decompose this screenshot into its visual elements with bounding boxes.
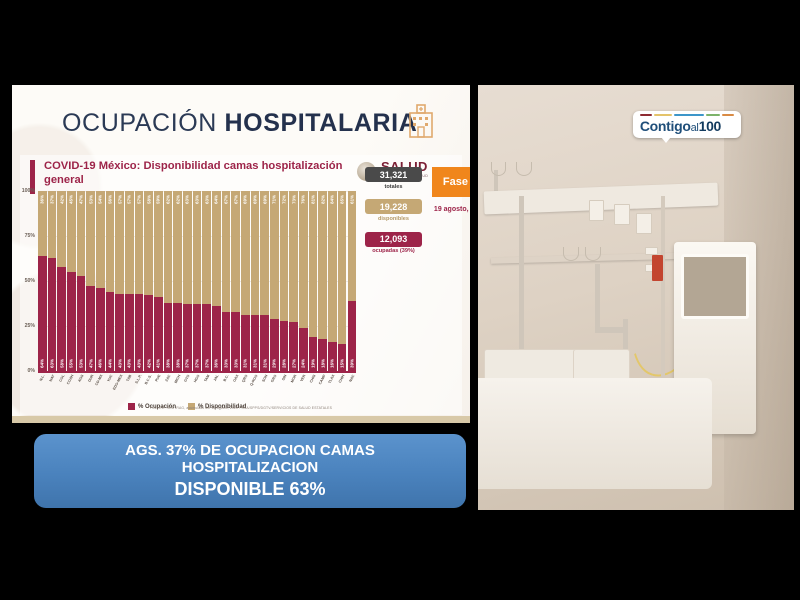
bar-segment-disponibilidad: 81% bbox=[309, 191, 318, 337]
bar-value-ocupacion: 36% bbox=[214, 359, 219, 368]
bar-value-disponibilidad: 67% bbox=[233, 195, 238, 204]
x-axis-tick: COL bbox=[57, 374, 66, 400]
bar-segment-disponibilidad: 57% bbox=[125, 191, 134, 294]
bar-segment-disponibilidad: 82% bbox=[318, 191, 327, 339]
contigo-al-100-logo: Contigoal100 bbox=[633, 111, 741, 139]
bar-value-disponibilidad: 63% bbox=[195, 195, 200, 204]
bar-value-ocupacion: 63% bbox=[49, 359, 54, 368]
y-axis-tick: 75% bbox=[25, 233, 35, 239]
x-axis-tick: AGS bbox=[77, 374, 86, 400]
bar-value-ocupacion: 24% bbox=[301, 359, 306, 368]
hospital-room-photo: Contigoal100 bbox=[478, 85, 794, 510]
bar-value-disponibilidad: 62% bbox=[166, 195, 171, 204]
bar-column: 62%38% bbox=[164, 191, 173, 371]
vertical-pipe bbox=[595, 264, 600, 332]
total-beds-value: 31,321 bbox=[365, 167, 422, 182]
bar-value-ocupacion: 38% bbox=[166, 359, 171, 368]
bar-segment-ocupacion: 63% bbox=[48, 258, 57, 371]
x-axis-tick: ZAC bbox=[164, 374, 173, 400]
bar-segment-disponibilidad: 53% bbox=[86, 191, 95, 286]
bar-segment-disponibilidad: 61% bbox=[348, 191, 357, 301]
x-axis-line bbox=[38, 371, 356, 373]
x-axis-tick: GRO bbox=[270, 374, 279, 400]
bar-value-ocupacion: 53% bbox=[78, 359, 83, 368]
bar-value-disponibilidad: 71% bbox=[272, 195, 277, 204]
bar-segment-disponibilidad: 58% bbox=[144, 191, 153, 295]
bar-value-ocupacion: 33% bbox=[233, 359, 238, 368]
bar-value-disponibilidad: 59% bbox=[156, 195, 161, 204]
bar-segment-disponibilidad: 62% bbox=[173, 191, 182, 303]
bar-segment-ocupacion: 58% bbox=[57, 267, 66, 371]
bar-value-ocupacion: 31% bbox=[253, 359, 258, 368]
logo-wordmark: Contigoal100 bbox=[640, 118, 734, 134]
bar-segment-ocupacion: 41% bbox=[154, 297, 163, 371]
bar-column: 67%33% bbox=[222, 191, 231, 371]
y-axis-tick: 25% bbox=[25, 323, 35, 329]
bar-segment-ocupacion: 37% bbox=[202, 304, 211, 371]
bar-segment-ocupacion: 31% bbox=[251, 315, 260, 371]
logo-dash bbox=[706, 114, 720, 117]
occupied-beds-label: ocupadas (39%) bbox=[365, 248, 422, 255]
bar-column: 57%43% bbox=[135, 191, 144, 371]
x-axis-tick: CD-MX bbox=[96, 374, 105, 400]
logo-pointer bbox=[661, 137, 671, 143]
x-axis-tick: CAMP bbox=[318, 374, 327, 400]
screenshot-root: OCUPACIÓN HOSPITALARIA COVID-19 México: … bbox=[0, 0, 800, 600]
bar-column: 54%46% bbox=[96, 191, 105, 371]
bar-value-ocupacion: 27% bbox=[291, 359, 296, 368]
bar-value-disponibilidad: 63% bbox=[204, 195, 209, 204]
bar-segment-disponibilidad: 64% bbox=[212, 191, 221, 306]
x-axis-tick: MOR bbox=[289, 374, 298, 400]
bar-column: 82%18% bbox=[318, 191, 327, 371]
bar-value-disponibilidad: 42% bbox=[59, 195, 64, 204]
bar-segment-disponibilidad: 69% bbox=[260, 191, 269, 315]
bar-column: 73%27% bbox=[289, 191, 298, 371]
ventilator-screen bbox=[681, 254, 748, 319]
bar-segment-disponibilidad: 84% bbox=[328, 191, 337, 342]
bar-column: 36%64% bbox=[38, 191, 47, 371]
bar-value-ocupacion: 37% bbox=[204, 359, 209, 368]
bar-column: 53%47% bbox=[86, 191, 95, 371]
bar-segment-disponibilidad: 56% bbox=[106, 191, 115, 292]
bar-value-disponibilidad: 61% bbox=[349, 195, 354, 204]
bar-value-ocupacion: 55% bbox=[69, 359, 74, 368]
bar-value-ocupacion: 19% bbox=[311, 359, 316, 368]
bar-column: 85%15% bbox=[338, 191, 347, 371]
hospital-bed bbox=[478, 378, 712, 489]
x-axis-tick: TAB bbox=[125, 374, 134, 400]
bar-column: 63%37% bbox=[193, 191, 202, 371]
logo-100: 100 bbox=[699, 118, 721, 134]
bar-segment-disponibilidad: 62% bbox=[164, 191, 173, 303]
bar-value-ocupacion: 43% bbox=[127, 359, 132, 368]
x-axis-tick: N.L. bbox=[38, 374, 47, 400]
stacked-bar-chart: 0%25%50%75%100% 36%64%37%63%42%58%45%55%… bbox=[38, 191, 356, 371]
bar-segment-disponibilidad: 63% bbox=[193, 191, 202, 304]
bar-segment-ocupacion: 31% bbox=[260, 315, 269, 371]
bar-segment-disponibilidad: 72% bbox=[280, 191, 289, 321]
bar-segment-disponibilidad: 69% bbox=[251, 191, 260, 315]
x-axis-tick: CHIH bbox=[338, 374, 347, 400]
bar-column: 62%38% bbox=[173, 191, 182, 371]
bar-value-disponibilidad: 45% bbox=[69, 195, 74, 204]
bar-column: 69%31% bbox=[251, 191, 260, 371]
caption-banner: AGS. 37% DE OCUPACION CAMAS HOSPITALIZAC… bbox=[34, 434, 466, 508]
bar-segment-disponibilidad: 54% bbox=[96, 191, 105, 288]
x-axis-tick: QRO bbox=[241, 374, 250, 400]
bar-value-ocupacion: 31% bbox=[262, 359, 267, 368]
bar-value-disponibilidad: 57% bbox=[137, 195, 142, 204]
bar-column: 37%63% bbox=[48, 191, 57, 371]
bar-segment-disponibilidad: 71% bbox=[270, 191, 279, 319]
bar-value-ocupacion: 33% bbox=[224, 359, 229, 368]
total-beds-label: totales bbox=[365, 184, 422, 191]
bar-column: 72%28% bbox=[280, 191, 289, 371]
bar-column: 69%31% bbox=[260, 191, 269, 371]
bar-value-ocupacion: 46% bbox=[98, 359, 103, 368]
bar-segment-disponibilidad: 85% bbox=[338, 191, 347, 344]
fecha-label: 19 agosto, 2020 bbox=[432, 205, 470, 214]
bar-value-disponibilidad: 72% bbox=[282, 195, 287, 204]
available-beds-label: disponibles bbox=[365, 216, 422, 223]
x-axis-tick: PUE bbox=[154, 374, 163, 400]
bar-segment-ocupacion: 29% bbox=[270, 319, 279, 371]
x-axis-tick: NAC bbox=[348, 374, 357, 400]
bar-segment-ocupacion: 31% bbox=[241, 315, 250, 371]
x-axis-tick: OAX bbox=[231, 374, 240, 400]
x-axis-tick: VER bbox=[299, 374, 308, 400]
bar-value-disponibilidad: 57% bbox=[117, 195, 122, 204]
y-axis-tick: 0% bbox=[28, 368, 36, 374]
bar-segment-disponibilidad: 36% bbox=[38, 191, 47, 256]
bar-column: 67%33% bbox=[231, 191, 240, 371]
bar-value-disponibilidad: 82% bbox=[320, 195, 325, 204]
x-axis-tick: COAH bbox=[67, 374, 76, 400]
bar-value-disponibilidad: 47% bbox=[78, 195, 83, 204]
logo-dash bbox=[674, 114, 704, 117]
bar-value-disponibilidad: 81% bbox=[311, 195, 316, 204]
bar-column: 61%39% bbox=[348, 191, 357, 371]
y-axis-tick: 100% bbox=[22, 188, 35, 194]
bar-segment-ocupacion: 38% bbox=[164, 303, 173, 371]
bar-segment-disponibilidad: 57% bbox=[115, 191, 124, 294]
bar-value-disponibilidad: 36% bbox=[40, 195, 45, 204]
bar-segment-disponibilidad: 67% bbox=[222, 191, 231, 312]
bar-value-disponibilidad: 85% bbox=[340, 195, 345, 204]
bar-value-ocupacion: 47% bbox=[88, 359, 93, 368]
bar-column: 63%37% bbox=[202, 191, 211, 371]
bar-value-ocupacion: 16% bbox=[330, 359, 335, 368]
bar-column: 45%55% bbox=[67, 191, 76, 371]
bar-value-ocupacion: 28% bbox=[282, 359, 287, 368]
bar-value-disponibilidad: 69% bbox=[243, 195, 248, 204]
bar-column: 69%31% bbox=[241, 191, 250, 371]
caption-line-3: DISPONIBLE 63% bbox=[174, 479, 325, 500]
x-axis-tick: SIN bbox=[280, 374, 289, 400]
x-axis-tick: B.C. bbox=[222, 374, 231, 400]
x-axis-tick: HGO bbox=[193, 374, 202, 400]
x-axis-tick: GTO bbox=[183, 374, 192, 400]
bar-segment-ocupacion: 39% bbox=[348, 301, 357, 371]
bar-value-disponibilidad: 56% bbox=[107, 195, 112, 204]
bar-segment-ocupacion: 43% bbox=[135, 294, 144, 371]
bar-segment-ocupacion: 55% bbox=[67, 272, 76, 371]
x-axis-labels: N.L.NAYCOLCOAHAGSDURCD-MXYUCEDO-MEXTABS.… bbox=[38, 374, 356, 400]
hospital-building-icon bbox=[404, 103, 438, 139]
summary-stats: 31,321 totales 19,228 disponibles 12,093… bbox=[365, 167, 425, 255]
bar-segment-ocupacion: 37% bbox=[193, 304, 202, 371]
fase-badge: Fase 3 bbox=[432, 167, 470, 197]
bar-segment-ocupacion: 38% bbox=[173, 303, 182, 371]
bar-segment-ocupacion: 37% bbox=[183, 304, 192, 371]
bar-column: 56%44% bbox=[106, 191, 115, 371]
bar-value-ocupacion: 43% bbox=[117, 359, 122, 368]
bar-segment-disponibilidad: 57% bbox=[135, 191, 144, 294]
bar-segment-disponibilidad: 73% bbox=[289, 191, 298, 322]
bar-segment-disponibilidad: 63% bbox=[183, 191, 192, 304]
x-axis-tick: Q-ROO bbox=[251, 374, 260, 400]
x-axis-tick: JAL bbox=[212, 374, 221, 400]
bar-column: 42%58% bbox=[57, 191, 66, 371]
bar-segment-disponibilidad: 47% bbox=[77, 191, 86, 276]
bar-column: 57%43% bbox=[115, 191, 124, 371]
x-axis-tick: MICH bbox=[173, 374, 182, 400]
bar-segment-disponibilidad: 67% bbox=[231, 191, 240, 312]
caption-line-1: AGS. 37% DE OCUPACION CAMAS bbox=[125, 442, 375, 460]
bar-series-container: 36%64%37%63%42%58%45%55%47%53%53%47%54%4… bbox=[38, 191, 356, 371]
wall-switch bbox=[645, 247, 658, 256]
bar-column: 57%43% bbox=[125, 191, 134, 371]
chart-card: COVID-19 México: Disponibilidad camas ho… bbox=[20, 155, 462, 415]
bar-value-ocupacion: 37% bbox=[195, 359, 200, 368]
bar-segment-disponibilidad: 76% bbox=[299, 191, 308, 328]
bar-column: 47%53% bbox=[77, 191, 86, 371]
bar-value-disponibilidad: 57% bbox=[127, 195, 132, 204]
bar-segment-ocupacion: 46% bbox=[96, 288, 105, 371]
logo-al: al bbox=[691, 122, 699, 134]
bar-column: 76%24% bbox=[299, 191, 308, 371]
y-axis-tick: 50% bbox=[25, 278, 35, 284]
x-axis-tick: TLAX bbox=[328, 374, 337, 400]
logo-dash bbox=[654, 114, 672, 117]
bar-value-disponibilidad: 69% bbox=[262, 195, 267, 204]
bar-value-disponibilidad: 63% bbox=[185, 195, 190, 204]
bar-segment-ocupacion: 44% bbox=[106, 292, 115, 371]
bar-segment-disponibilidad: 63% bbox=[202, 191, 211, 304]
bar-segment-ocupacion: 15% bbox=[338, 344, 347, 371]
bar-segment-ocupacion: 53% bbox=[77, 276, 86, 371]
bar-value-ocupacion: 64% bbox=[40, 359, 45, 368]
bar-segment-ocupacion: 28% bbox=[280, 321, 289, 371]
x-axis-tick: TAM bbox=[202, 374, 211, 400]
bar-value-ocupacion: 58% bbox=[59, 359, 64, 368]
chart-footnote: FUENTE: RED IRAG, acumulado del 18 agost… bbox=[12, 406, 470, 410]
bar-column: 59%41% bbox=[154, 191, 163, 371]
x-axis-tick: S.L.P. bbox=[135, 374, 144, 400]
bar-column: 63%37% bbox=[183, 191, 192, 371]
emergency-valve bbox=[652, 255, 663, 281]
horizontal-pipe bbox=[595, 327, 627, 333]
bar-column: 58%42% bbox=[144, 191, 153, 371]
slide-footer-bar bbox=[12, 416, 470, 423]
chart-title: COVID-19 México: Disponibilidad camas ho… bbox=[44, 159, 344, 188]
slide-title-bold: HOSPITALARIA bbox=[225, 109, 418, 137]
bar-segment-ocupacion: 19% bbox=[309, 337, 318, 371]
bar-segment-ocupacion: 42% bbox=[144, 295, 153, 371]
bar-column: 71%29% bbox=[270, 191, 279, 371]
bar-column: 64%36% bbox=[212, 191, 221, 371]
bar-value-disponibilidad: 53% bbox=[88, 195, 93, 204]
bar-segment-ocupacion: 64% bbox=[38, 256, 47, 371]
wall-outlet bbox=[589, 200, 605, 221]
x-axis-tick: SON bbox=[260, 374, 269, 400]
bar-value-ocupacion: 38% bbox=[175, 359, 180, 368]
slide-title-light: OCUPACIÓN bbox=[62, 109, 217, 137]
bar-value-disponibilidad: 84% bbox=[330, 195, 335, 204]
available-beds-value: 19,228 bbox=[365, 199, 422, 214]
bar-segment-disponibilidad: 45% bbox=[67, 191, 76, 272]
x-axis-tick: B.C.S. bbox=[144, 374, 153, 400]
logo-contigo: Contigo bbox=[640, 118, 691, 134]
logo-dash bbox=[640, 114, 652, 117]
bar-column: 84%16% bbox=[328, 191, 337, 371]
bar-value-disponibilidad: 64% bbox=[214, 195, 219, 204]
bar-value-ocupacion: 41% bbox=[156, 359, 161, 368]
bar-value-disponibilidad: 67% bbox=[224, 195, 229, 204]
bar-value-disponibilidad: 62% bbox=[175, 195, 180, 204]
bar-value-ocupacion: 37% bbox=[185, 359, 190, 368]
bar-segment-disponibilidad: 37% bbox=[48, 191, 57, 258]
bar-column: 81%19% bbox=[309, 191, 318, 371]
wall-outlet bbox=[614, 204, 630, 225]
occupied-beds-value: 12,093 bbox=[365, 232, 422, 247]
bar-value-ocupacion: 39% bbox=[349, 359, 354, 368]
bar-segment-ocupacion: 33% bbox=[231, 312, 240, 371]
bar-value-ocupacion: 18% bbox=[320, 359, 325, 368]
bar-value-disponibilidad: 58% bbox=[146, 195, 151, 204]
bar-segment-disponibilidad: 69% bbox=[241, 191, 250, 315]
logo-dashes bbox=[640, 114, 734, 117]
bar-value-ocupacion: 44% bbox=[107, 359, 112, 368]
bar-segment-ocupacion: 16% bbox=[328, 342, 337, 371]
bar-segment-ocupacion: 27% bbox=[289, 322, 298, 371]
x-axis-tick: NAY bbox=[48, 374, 57, 400]
bar-value-ocupacion: 15% bbox=[340, 359, 345, 368]
x-axis-tick: DUR bbox=[86, 374, 95, 400]
bar-value-ocupacion: 31% bbox=[243, 359, 248, 368]
bar-segment-disponibilidad: 59% bbox=[154, 191, 163, 297]
slide-title: OCUPACIÓN HOSPITALARIA bbox=[62, 109, 417, 138]
bar-segment-disponibilidad: 42% bbox=[57, 191, 66, 267]
bar-value-disponibilidad: 37% bbox=[49, 195, 54, 204]
x-axis-tick: EDO-MEX bbox=[115, 374, 124, 400]
caption-line-2: HOSPITALIZACION bbox=[182, 459, 318, 477]
bar-value-ocupacion: 43% bbox=[137, 359, 142, 368]
bar-value-ocupacion: 29% bbox=[272, 359, 277, 368]
bar-segment-ocupacion: 47% bbox=[86, 286, 95, 371]
bar-value-disponibilidad: 76% bbox=[301, 195, 306, 204]
logo-dash bbox=[722, 114, 734, 117]
bar-segment-ocupacion: 43% bbox=[125, 294, 134, 371]
bar-segment-ocupacion: 36% bbox=[212, 306, 221, 371]
wall-outlet bbox=[636, 213, 652, 234]
bar-segment-ocupacion: 24% bbox=[299, 328, 308, 371]
infographic-slide: OCUPACIÓN HOSPITALARIA COVID-19 México: … bbox=[12, 85, 470, 423]
bar-value-disponibilidad: 73% bbox=[291, 195, 296, 204]
bar-value-disponibilidad: 69% bbox=[253, 195, 258, 204]
x-axis-tick: CHIS bbox=[309, 374, 318, 400]
bar-value-disponibilidad: 54% bbox=[98, 195, 103, 204]
bar-value-ocupacion: 42% bbox=[146, 359, 151, 368]
bar-segment-ocupacion: 33% bbox=[222, 312, 231, 371]
bar-segment-ocupacion: 43% bbox=[115, 294, 124, 371]
bar-segment-ocupacion: 18% bbox=[318, 339, 327, 371]
